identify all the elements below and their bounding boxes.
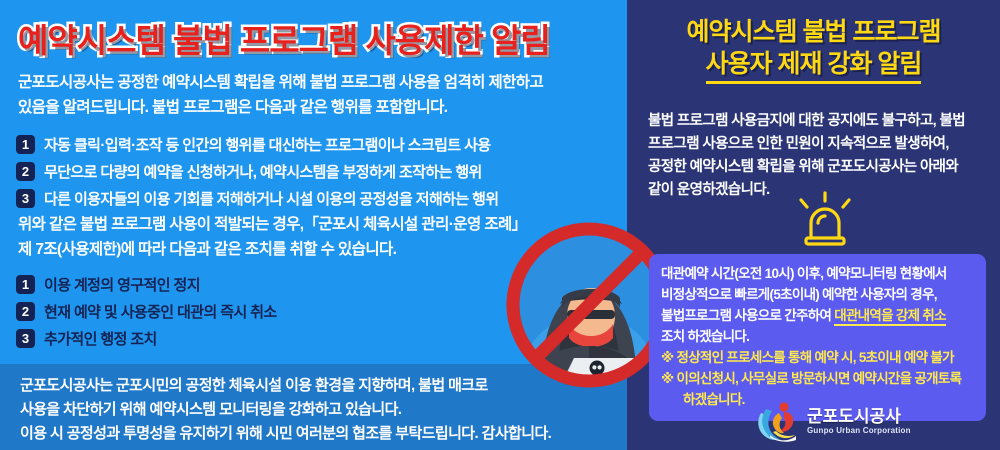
right-title-line-1: 예약시스템 불법 프로그램 <box>627 16 1000 48</box>
footer-paragraph: 군포도시공사는 군포시민의 공정한 체육시설 이용 환경을 지향하며, 불법 매… <box>20 374 610 446</box>
intro-paragraph: 군포도시공사는 공정한 예약시스템 확립을 위해 불법 프로그램 사용을 엄격히… <box>18 70 613 120</box>
list-item-label: 자동 클릭·입력·조작 등 인간의 행위를 대신하는 프로그램이나 스크립트 사… <box>44 134 491 155</box>
list-item: 2 무단으로 다량의 예약을 신청하거나, 예약시스템을 부정하게 조작하는 행… <box>16 159 616 183</box>
list-number-badge: 1 <box>16 275 35 294</box>
info-line-4: 조치 하겠습니다. <box>661 326 976 347</box>
page-title: 예약시스템 불법 프로그램 사용제한 알림 <box>18 14 618 62</box>
gunpo-urban-corporation-logo: 군포도시공사 Gunpo Urban Corporation <box>755 398 970 444</box>
intro-line-1: 군포도시공사는 공정한 예약시스템 확립을 위해 불법 프로그램 사용을 엄격히… <box>18 70 613 95</box>
right-body-line-1: 불법 프로그램 사용금지에 대한 공지에도 불구하고, 불법 <box>648 110 983 133</box>
info-line-2: 비정상적으로 빠르게(5초이내) 예약한 사용자의 경우, <box>661 284 976 305</box>
clause-line-1: 위와 같은 불법 프로그램 사용이 적발되는 경우,「군포시 체육시설 관리·운… <box>18 212 578 237</box>
info-note-1: ※ 정상적인 프로세스를 통해 예약 시, 5초이내 예약 불가 <box>661 347 976 368</box>
list-number-badge: 3 <box>16 189 35 208</box>
footer-line-3: 이용 시 공정성과 투명성을 유지하기 위해 시민 여러분의 협조를 부탁드립니… <box>20 422 610 446</box>
list-number-badge: 2 <box>16 162 35 181</box>
clause-paragraph: 위와 같은 불법 프로그램 사용이 적발되는 경우,「군포시 체육시설 관리·운… <box>18 212 578 262</box>
list-item: 3 다른 이용자들의 이용 기회를 저해하거나 시설 이용의 공정성을 저해하는… <box>16 186 616 210</box>
list-item-label: 다른 이용자들의 이용 기회를 저해하거나 시설 이용의 공정성을 저해하는 행… <box>44 188 499 209</box>
clause-line-2: 제 7조(사용제한)에 따라 다음과 같은 조치를 취할 수 있습니다. <box>18 237 578 262</box>
forced-cancellation-emphasis: 대관내역을 강제 취소 <box>834 308 946 326</box>
intro-line-2: 있음을 알려드립니다. 불법 프로그램은 다음과 같은 행위를 포함합니다. <box>18 95 613 120</box>
right-panel-title: 예약시스템 불법 프로그램 사용자 제재 강화 알림 <box>627 16 1000 84</box>
list-item-label: 무단으로 다량의 예약을 신청하거나, 예약시스템을 부정하게 조작하는 행위 <box>44 161 482 182</box>
footer-line-1: 군포도시공사는 군포시민의 공정한 체육시설 이용 환경을 지향하며, 불법 매… <box>20 374 610 398</box>
right-body-line-2: 프로그램 사용으로 인한 민원이 지속적으로 발생하여, <box>648 133 983 156</box>
info-line-1: 대관예약 시간(오전 10시) 이후, 예약모니터링 현황에서 <box>661 263 976 284</box>
list-number-badge: 2 <box>16 302 35 321</box>
list-item-label: 추가적인 행정 조치 <box>44 328 157 349</box>
list-item-label: 이용 계정의 영구적인 정지 <box>44 274 200 295</box>
violations-list: 1 자동 클릭·입력·조작 등 인간의 행위를 대신하는 프로그램이나 스크립트… <box>16 132 616 213</box>
logo-name-en: Gunpo Urban Corporation <box>807 427 911 435</box>
siren-icon <box>790 190 860 252</box>
list-number-badge: 1 <box>16 135 35 154</box>
right-panel-body: 불법 프로그램 사용금지에 대한 공지에도 불구하고, 불법 프로그램 사용으로… <box>648 110 983 202</box>
logo-text: 군포도시공사 Gunpo Urban Corporation <box>807 408 911 435</box>
list-item: 1 자동 클릭·입력·조작 등 인간의 행위를 대신하는 프로그램이나 스크립트… <box>16 132 616 156</box>
list-number-badge: 3 <box>16 329 35 348</box>
footer-line-2: 사용을 차단하기 위해 예약시스템 모니터링을 강화하고 있습니다. <box>20 398 610 422</box>
list-item-label: 현재 예약 및 사용중인 대관의 즉시 취소 <box>44 301 277 322</box>
info-line-3-prefix: 불법프로그램 사용으로 간주하여 <box>661 308 834 323</box>
enforcement-info-box: 대관예약 시간(오전 10시) 이후, 예약모니터링 현황에서 비정상적으로 빠… <box>649 254 986 421</box>
right-body-line-3: 공정한 예약시스템 확립을 위해 군포도시공사는 아래와 <box>648 156 983 179</box>
info-note-2: ※ 이의신청시, 사무실로 방문하시면 예약시간을 공개토록 <box>661 368 976 389</box>
notice-banner: 예약시스템 불법 프로그램 사용제한 알림 군포도시공사는 공정한 예약시스템 … <box>0 0 1000 450</box>
right-title-line-2: 사용자 제재 강화 알림 <box>706 48 922 84</box>
logo-name-kr: 군포도시공사 <box>807 408 911 425</box>
info-line-3: 불법프로그램 사용으로 간주하여 대관내역을 강제 취소 <box>661 305 976 326</box>
logo-emblem-icon <box>755 399 801 443</box>
